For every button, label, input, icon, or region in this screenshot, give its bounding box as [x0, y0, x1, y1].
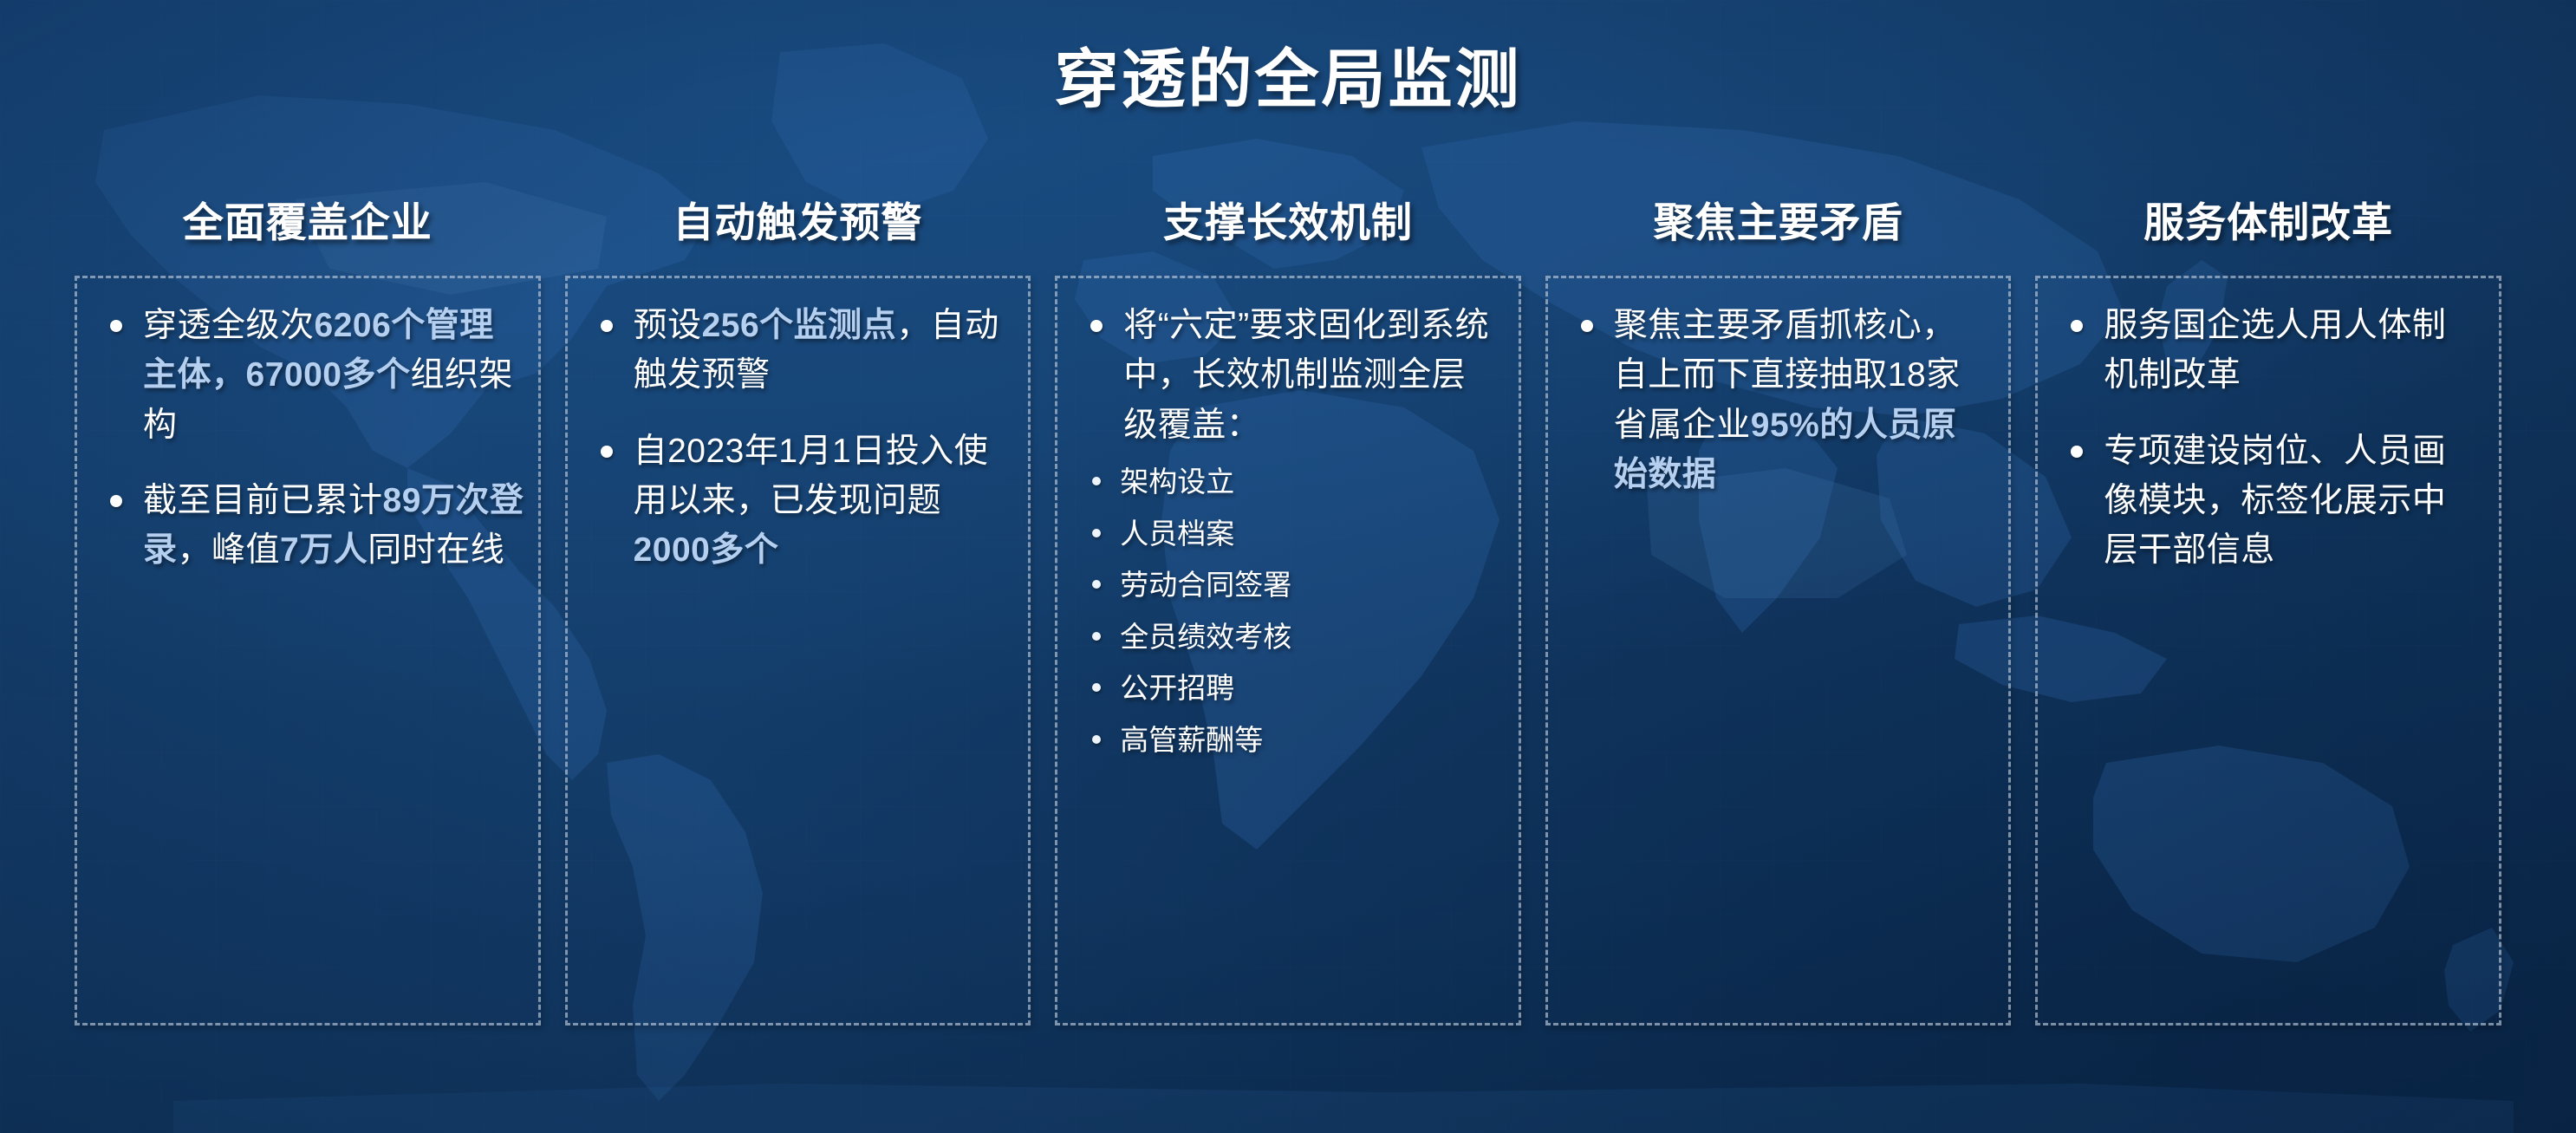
bullet-item: 专项建设岗位、人员画像模块，标签化展示中层干部信息: [2057, 427, 2480, 576]
sub-bullet-item: 架构设立: [1077, 464, 1499, 500]
bullet-list: 聚焦主要矛盾抓核心，自上而下直接抽取18家省属企业95%的人员原始数据: [1567, 301, 1990, 499]
sub-bullet-item: 人员档案: [1077, 516, 1499, 552]
highlight-text: 2000多个: [634, 531, 779, 569]
bullet-list: 穿透全级次6206个管理主体，67000多个组织架构截至目前已累计89万次登录，…: [96, 301, 524, 576]
highlight-text: 256个监测点: [702, 307, 897, 344]
column-content-box: 预设256个监测点，自动触发预警自2023年1月1日投入使用以来，已发现问题20…: [565, 276, 1031, 1026]
bullet-list: 服务国企选人用人体制机制改革专项建设岗位、人员画像模块，标签化展示中层干部信息: [2057, 301, 2480, 576]
body-text: 将“六定”要求固化到系统中，长效机制监测全层级覆盖：: [1123, 307, 1489, 444]
sub-bullet-item: 高管薪酬等: [1077, 722, 1499, 759]
highlight-text: 7万人: [280, 531, 368, 569]
sub-bullet-list: 架构设立人员档案劳动合同签署全员绩效考核公开招聘高管薪酬等: [1077, 464, 1499, 758]
bullet-list: 将“六定”要求固化到系统中，长效机制监测全层级覆盖：: [1077, 301, 1499, 450]
bullet-item: 穿透全级次6206个管理主体，67000多个组织架构: [96, 301, 524, 450]
column-header: 支撑长效机制: [1055, 189, 1521, 249]
column-full-coverage: 全面覆盖企业 穿透全级次6206个管理主体，67000多个组织架构截至目前已累计…: [75, 189, 541, 1026]
column-content-box: 将“六定”要求固化到系统中，长效机制监测全层级覆盖： 架构设立人员档案劳动合同签…: [1055, 276, 1521, 1026]
column-long-term-mechanism: 支撑长效机制 将“六定”要求固化到系统中，长效机制监测全层级覆盖： 架构设立人员…: [1055, 189, 1521, 1026]
bullet-item: 聚焦主要矛盾抓核心，自上而下直接抽取18家省属企业95%的人员原始数据: [1567, 301, 1990, 499]
column-content-box: 聚焦主要矛盾抓核心，自上而下直接抽取18家省属企业95%的人员原始数据: [1545, 276, 2012, 1026]
bullet-item: 预设256个监测点，自动触发预警: [587, 301, 1010, 400]
column-header: 全面覆盖企业: [75, 189, 541, 249]
body-text: 自2023年1月1日投入使用以来，已发现问题: [634, 433, 989, 519]
body-text: 截至目前已累计: [143, 482, 383, 519]
column-content-box: 穿透全级次6206个管理主体，67000多个组织架构截至目前已累计89万次登录，…: [75, 276, 541, 1026]
body-text: 服务国企选人用人体制机制改革: [2104, 307, 2446, 394]
body-text: 同时在线: [368, 531, 504, 569]
sub-bullet-item: 全员绩效考核: [1077, 619, 1499, 655]
column-header: 聚焦主要矛盾: [1545, 189, 2012, 249]
column-content-box: 服务国企选人用人体制机制改革专项建设岗位、人员画像模块，标签化展示中层干部信息: [2035, 276, 2501, 1026]
body-text: 专项建设岗位、人员画像模块，标签化展示中层干部信息: [2104, 433, 2446, 570]
bullet-item: 将“六定”要求固化到系统中，长效机制监测全层级覆盖：: [1077, 301, 1499, 450]
body-text: 预设: [634, 307, 702, 344]
slide-content: 穿透的全局监测 全面覆盖企业 穿透全级次6206个管理主体，67000多个组织架…: [0, 0, 2576, 1133]
body-text: 穿透全级次: [143, 307, 315, 344]
columns-container: 全面覆盖企业 穿透全级次6206个管理主体，67000多个组织架构截至目前已累计…: [75, 189, 2501, 1021]
bullet-item: 服务国企选人用人体制机制改革: [2057, 301, 2480, 400]
bullet-list: 预设256个监测点，自动触发预警自2023年1月1日投入使用以来，已发现问题20…: [587, 301, 1010, 576]
column-system-reform: 服务体制改革 服务国企选人用人体制机制改革专项建设岗位、人员画像模块，标签化展示…: [2035, 189, 2501, 1026]
bullet-item: 自2023年1月1日投入使用以来，已发现问题2000多个: [587, 427, 1010, 576]
sub-bullet-item: 公开招聘: [1077, 670, 1499, 706]
sub-bullet-item: 劳动合同签署: [1077, 567, 1499, 603]
column-header: 服务体制改革: [2035, 189, 2501, 249]
column-main-contradiction: 聚焦主要矛盾 聚焦主要矛盾抓核心，自上而下直接抽取18家省属企业95%的人员原始…: [1545, 189, 2012, 1026]
column-header: 自动触发预警: [565, 189, 1031, 249]
bullet-item: 截至目前已累计89万次登录，峰值7万人同时在线: [96, 476, 524, 576]
page-title: 穿透的全局监测: [0, 28, 2576, 120]
body-text: ，峰值: [178, 531, 281, 569]
column-auto-alert: 自动触发预警 预设256个监测点，自动触发预警自2023年1月1日投入使用以来，…: [565, 189, 1031, 1026]
